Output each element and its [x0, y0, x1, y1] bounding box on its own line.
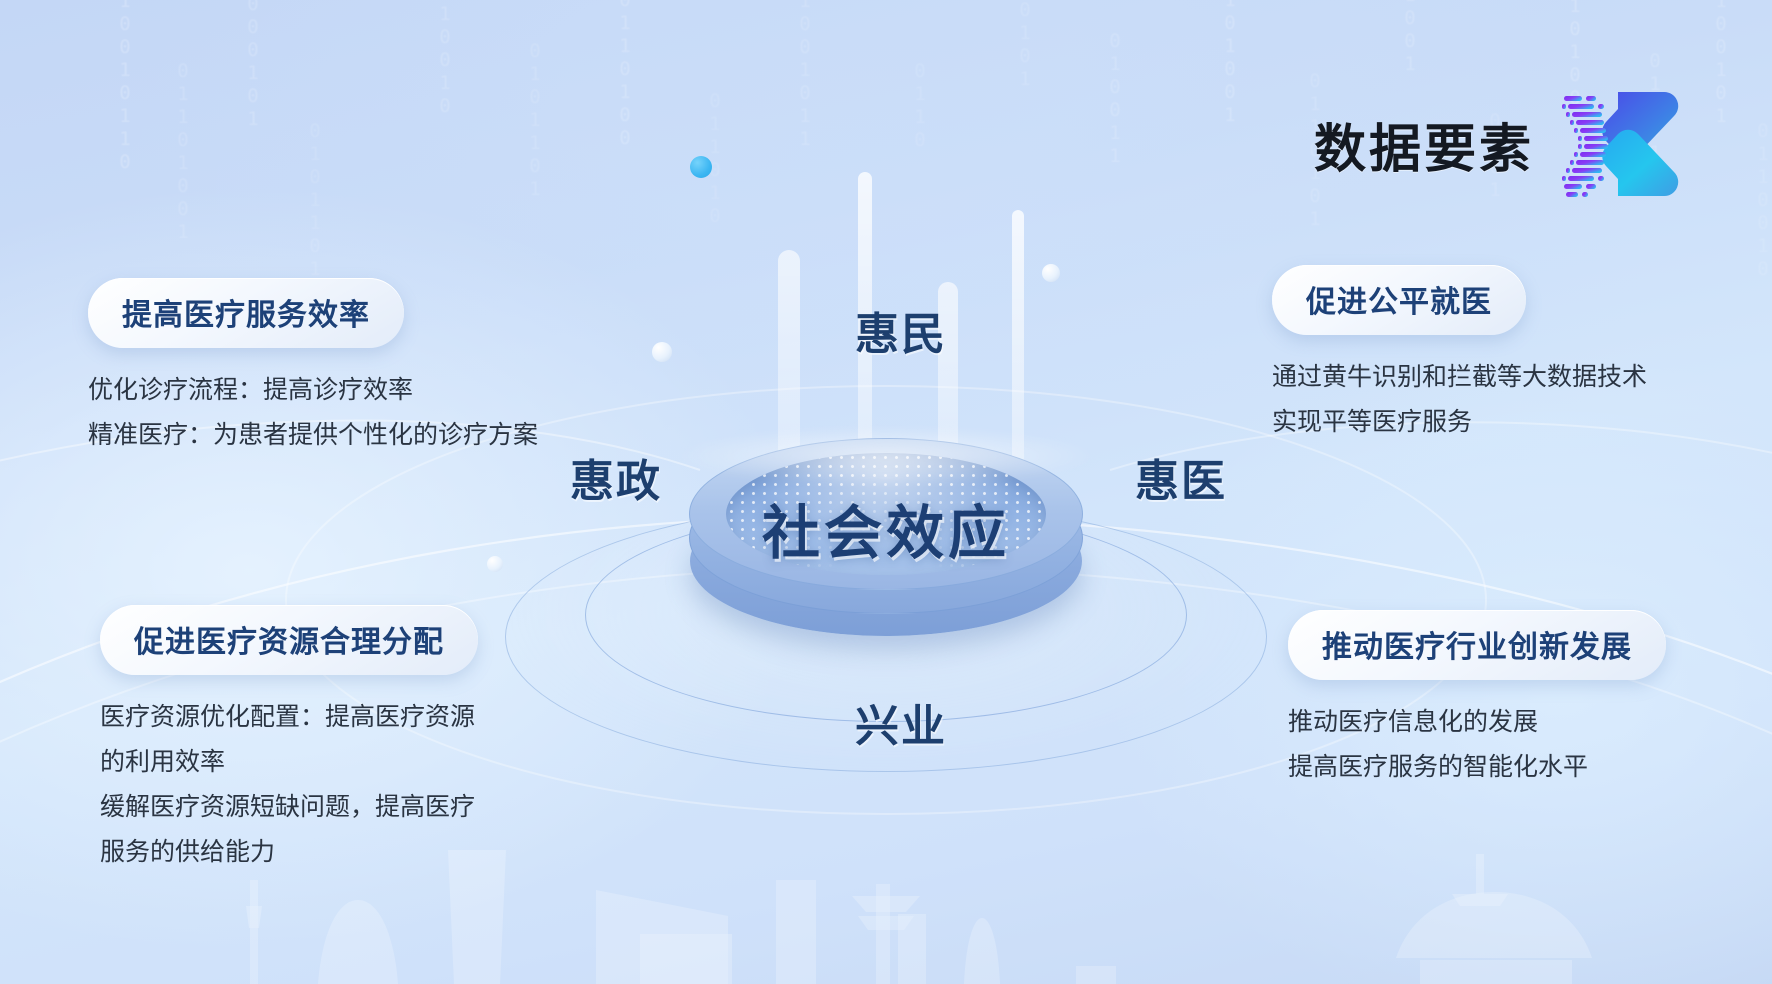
- brand-logo: 数据要素: [1314, 68, 1702, 220]
- info-block-bottom-right: 推动医疗行业创新发展 推动医疗信息化的发展 提高医疗服务的智能化水平: [1288, 610, 1666, 790]
- accent-dot: [652, 342, 672, 362]
- binary-column: 100101: [1706, 0, 1736, 128]
- info-body-top-right: 通过黄牛识别和拦截等大数据技术 实现平等医疗服务: [1272, 355, 1647, 445]
- info-line: 实现平等医疗服务: [1272, 400, 1647, 445]
- accent-dot: [1042, 264, 1060, 282]
- binary-column: 1001011: [790, 0, 820, 151]
- info-body-bottom-left: 医疗资源优化配置：提高医疗资源 的利用效率 缓解医疗资源短缺问题，提高医疗 服务…: [100, 695, 478, 875]
- binary-column: 110010: [430, 0, 460, 118]
- info-heading-pill-top-right: 促进公平就医: [1272, 265, 1526, 335]
- info-line: 推动医疗信息化的发展: [1288, 700, 1666, 745]
- info-heading-pill-bottom-right: 推动医疗行业创新发展: [1288, 610, 1666, 680]
- binary-column: 1101001: [1215, 0, 1245, 127]
- orbit-label-left: 惠政: [570, 445, 662, 509]
- info-block-top-right: 促进公平就医 通过黄牛识别和拦截等大数据技术 实现平等医疗服务: [1272, 265, 1647, 445]
- info-line: 提高医疗服务的智能化水平: [1288, 745, 1666, 790]
- accent-dot: [690, 156, 712, 178]
- binary-column: 010011: [1100, 30, 1130, 168]
- info-line: 缓解医疗资源短缺问题，提高医疗: [100, 785, 478, 830]
- info-line: 精准医疗：为患者提供个性化的诊疗方案: [88, 413, 538, 458]
- binary-column: 0110010: [1748, 120, 1772, 281]
- binary-column: 1000101: [238, 0, 268, 131]
- info-block-top-left: 提高医疗服务效率 优化诊疗流程：提高诊疗效率 精准医疗：为患者提供个性化的诊疗方…: [88, 278, 538, 458]
- binary-column: 01011010: [300, 120, 330, 304]
- binary-column: 10101: [1010, 0, 1040, 91]
- orbit-label-bottom: 兴业: [855, 690, 947, 754]
- accent-dot: [487, 556, 503, 572]
- binary-column: 011010: [700, 90, 730, 228]
- brand-name: 数据要素: [1314, 107, 1534, 182]
- info-line: 通过黄牛识别和拦截等大数据技术: [1272, 355, 1647, 400]
- binary-column: 10110100: [610, 0, 640, 150]
- binary-column: 0110: [905, 60, 935, 152]
- binary-column: 10010110: [110, 0, 140, 174]
- x-pixel-logo-icon: [1544, 68, 1702, 220]
- slide-canvas: 10010110 01101001 1000101 01011010 11001…: [0, 0, 1772, 984]
- info-block-bottom-left: 促进医疗资源合理分配 医疗资源优化配置：提高医疗资源 的利用效率 缓解医疗资源短…: [100, 605, 478, 875]
- binary-column: 1001: [1395, 0, 1425, 76]
- center-title: 社会效应: [762, 486, 1010, 570]
- platform-glow: [671, 426, 1101, 486]
- binary-column: 01101001: [168, 60, 198, 244]
- binary-column: 0101101: [520, 40, 550, 201]
- info-line: 医疗资源优化配置：提高医疗资源: [100, 695, 478, 740]
- info-line: 优化诊疗流程：提高诊疗效率: [88, 368, 538, 413]
- info-heading-pill-bottom-left: 促进医疗资源合理分配: [100, 605, 478, 675]
- orbit-label-right: 惠医: [1135, 445, 1227, 509]
- info-heading-pill-top-left: 提高医疗服务效率: [88, 278, 404, 348]
- info-body-bottom-right: 推动医疗信息化的发展 提高医疗服务的智能化水平: [1288, 700, 1666, 790]
- orbit-label-top: 惠民: [855, 298, 947, 362]
- info-body-top-left: 优化诊疗流程：提高诊疗效率 精准医疗：为患者提供个性化的诊疗方案: [88, 368, 538, 458]
- info-line: 的利用效率: [100, 740, 478, 785]
- info-line: 服务的供给能力: [100, 830, 478, 875]
